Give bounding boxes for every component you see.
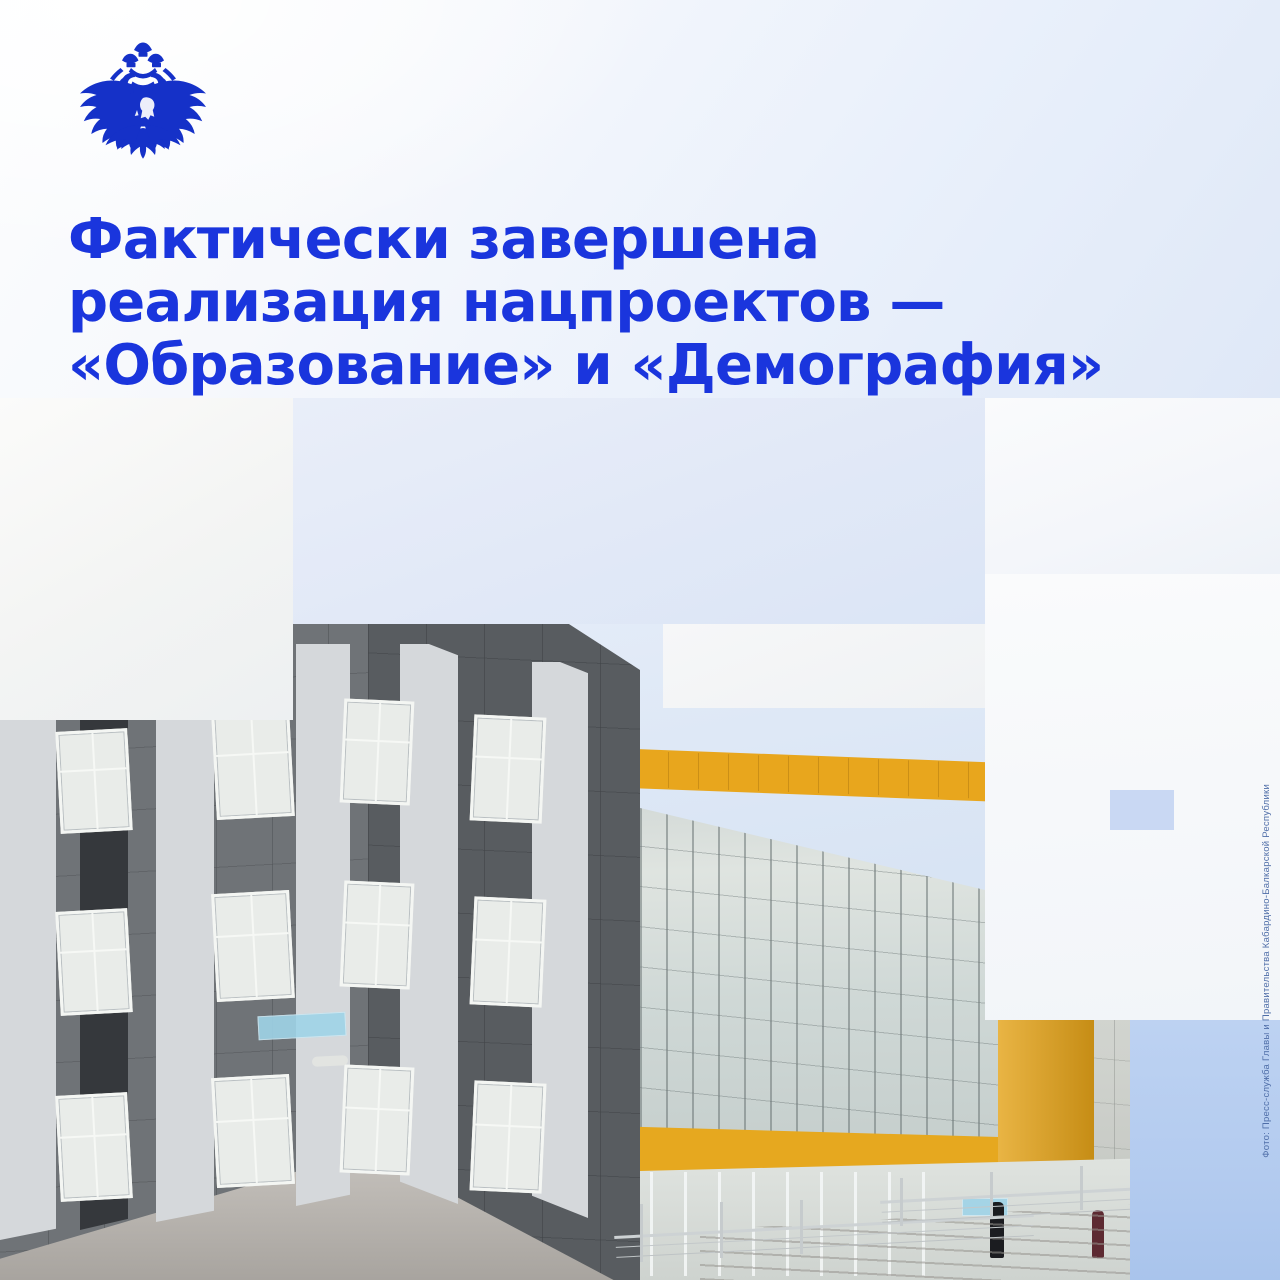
window [55, 728, 132, 834]
russian-double-headed-eagle-emblem [68, 38, 218, 188]
photo-credit: Фото: Пресс-служба Главы и Правительства… [1261, 784, 1272, 1158]
window [470, 714, 547, 823]
window [211, 1074, 295, 1188]
window [340, 1064, 415, 1175]
window [340, 698, 415, 805]
building-main-block [0, 494, 640, 1280]
page-title: Фактически завершена реализация нацпроек… [68, 208, 1233, 397]
window [55, 908, 133, 1016]
wall-plaque [257, 1012, 346, 1041]
window [340, 880, 415, 989]
building-photo [0, 398, 1280, 1280]
window [55, 1092, 133, 1202]
window [211, 710, 295, 820]
wall-lamp-icon [312, 1055, 348, 1067]
window [470, 896, 547, 1007]
social-card: Фактически завершена реализация нацпроек… [0, 0, 1280, 1280]
window [211, 890, 295, 1002]
window [470, 1080, 547, 1193]
